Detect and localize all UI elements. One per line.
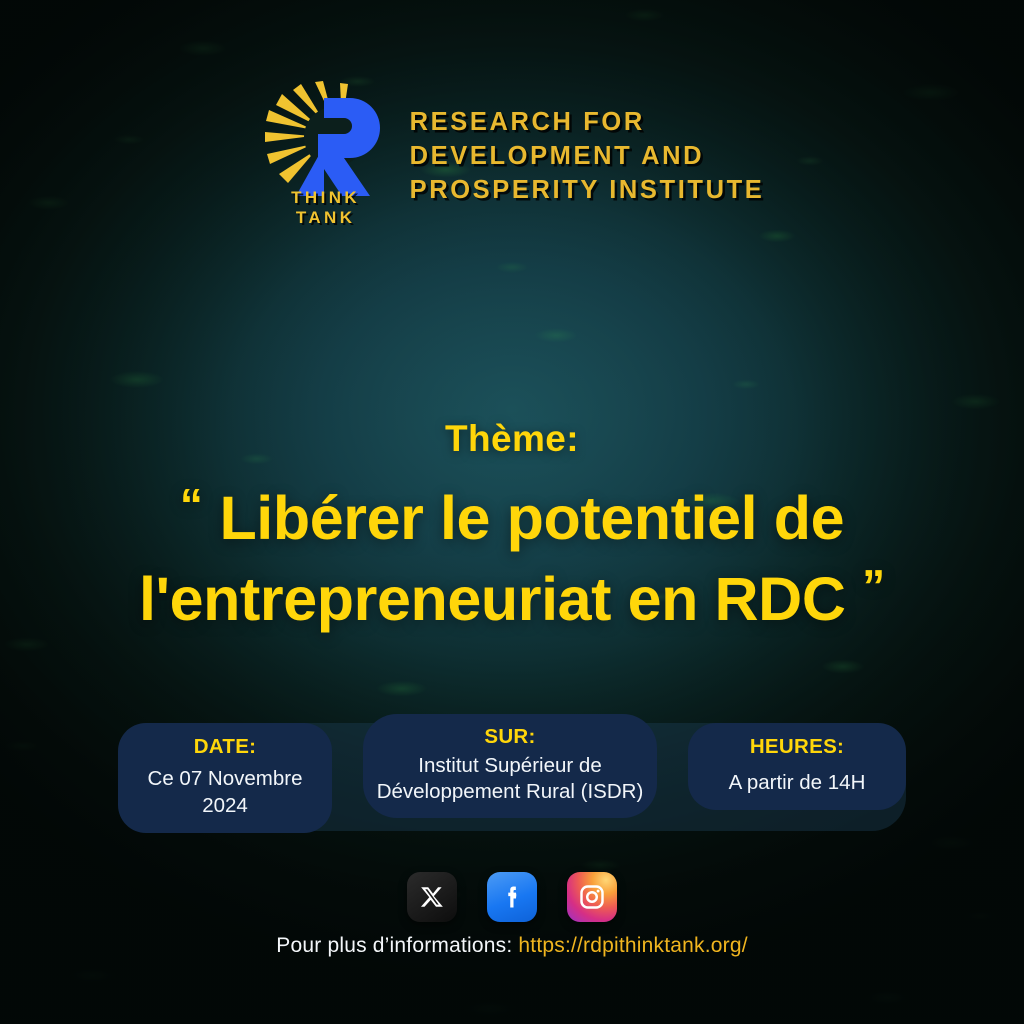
theme-title-line-1: Libérer le potentiel de xyxy=(219,484,844,552)
social-links xyxy=(0,872,1024,922)
info-card-venue-value: Institut Supérieur de Développement Rura… xyxy=(375,753,645,805)
brand-logo: THINK TANK RESEARCH FOR DEVELOPMENT AND … xyxy=(0,80,1024,228)
info-card-date-title: DATE: xyxy=(128,735,322,759)
info-card-date: DATE: Ce 07 Novembre 2024 xyxy=(118,723,332,833)
brand-name: RESEARCH FOR DEVELOPMENT AND PROSPERITY … xyxy=(410,80,765,208)
info-card-date-value: Ce 07 Novembre 2024 xyxy=(128,765,322,819)
brand-name-line-3: PROSPERITY INSTITUTE xyxy=(410,174,765,208)
open-quote-mark: “ xyxy=(180,479,203,531)
footer-label: Pour plus d’informations: xyxy=(276,934,512,957)
sunburst-r-logo-icon: THINK TANK xyxy=(260,80,396,228)
close-quote-mark: ” xyxy=(862,560,885,612)
website-url-link[interactable]: https://rdpithinktank.org/ xyxy=(518,934,747,957)
info-card-hours-value: A partir de 14H xyxy=(698,769,896,796)
info-card-venue-title: SUR: xyxy=(375,725,645,749)
theme-section: Thème: “ Libérer le potentiel de l'entre… xyxy=(0,418,1024,638)
theme-label: Thème: xyxy=(0,418,1024,460)
facebook-icon[interactable] xyxy=(487,872,537,922)
brand-name-line-1: RESEARCH FOR xyxy=(410,106,765,140)
brand-name-line-2: DEVELOPMENT AND xyxy=(410,140,765,174)
info-card-hours: HEURES: A partir de 14H xyxy=(688,723,906,810)
info-cards: DATE: Ce 07 Novembre 2024 SUR: Institut … xyxy=(118,714,906,840)
theme-title: “ Libérer le potentiel de l'entrepreneur… xyxy=(0,476,1024,638)
logo-tagline: THINK TANK xyxy=(260,188,392,228)
event-poster: THINK TANK RESEARCH FOR DEVELOPMENT AND … xyxy=(0,0,1024,1024)
x-twitter-icon[interactable] xyxy=(407,872,457,922)
info-card-hours-title: HEURES: xyxy=(698,735,896,759)
info-card-venue: SUR: Institut Supérieur de Développement… xyxy=(363,714,657,818)
instagram-icon[interactable] xyxy=(567,872,617,922)
footer: Pour plus d’informations: https://rdpith… xyxy=(0,934,1024,958)
theme-title-line-2: l'entrepreneuriat en RDC xyxy=(139,565,846,633)
